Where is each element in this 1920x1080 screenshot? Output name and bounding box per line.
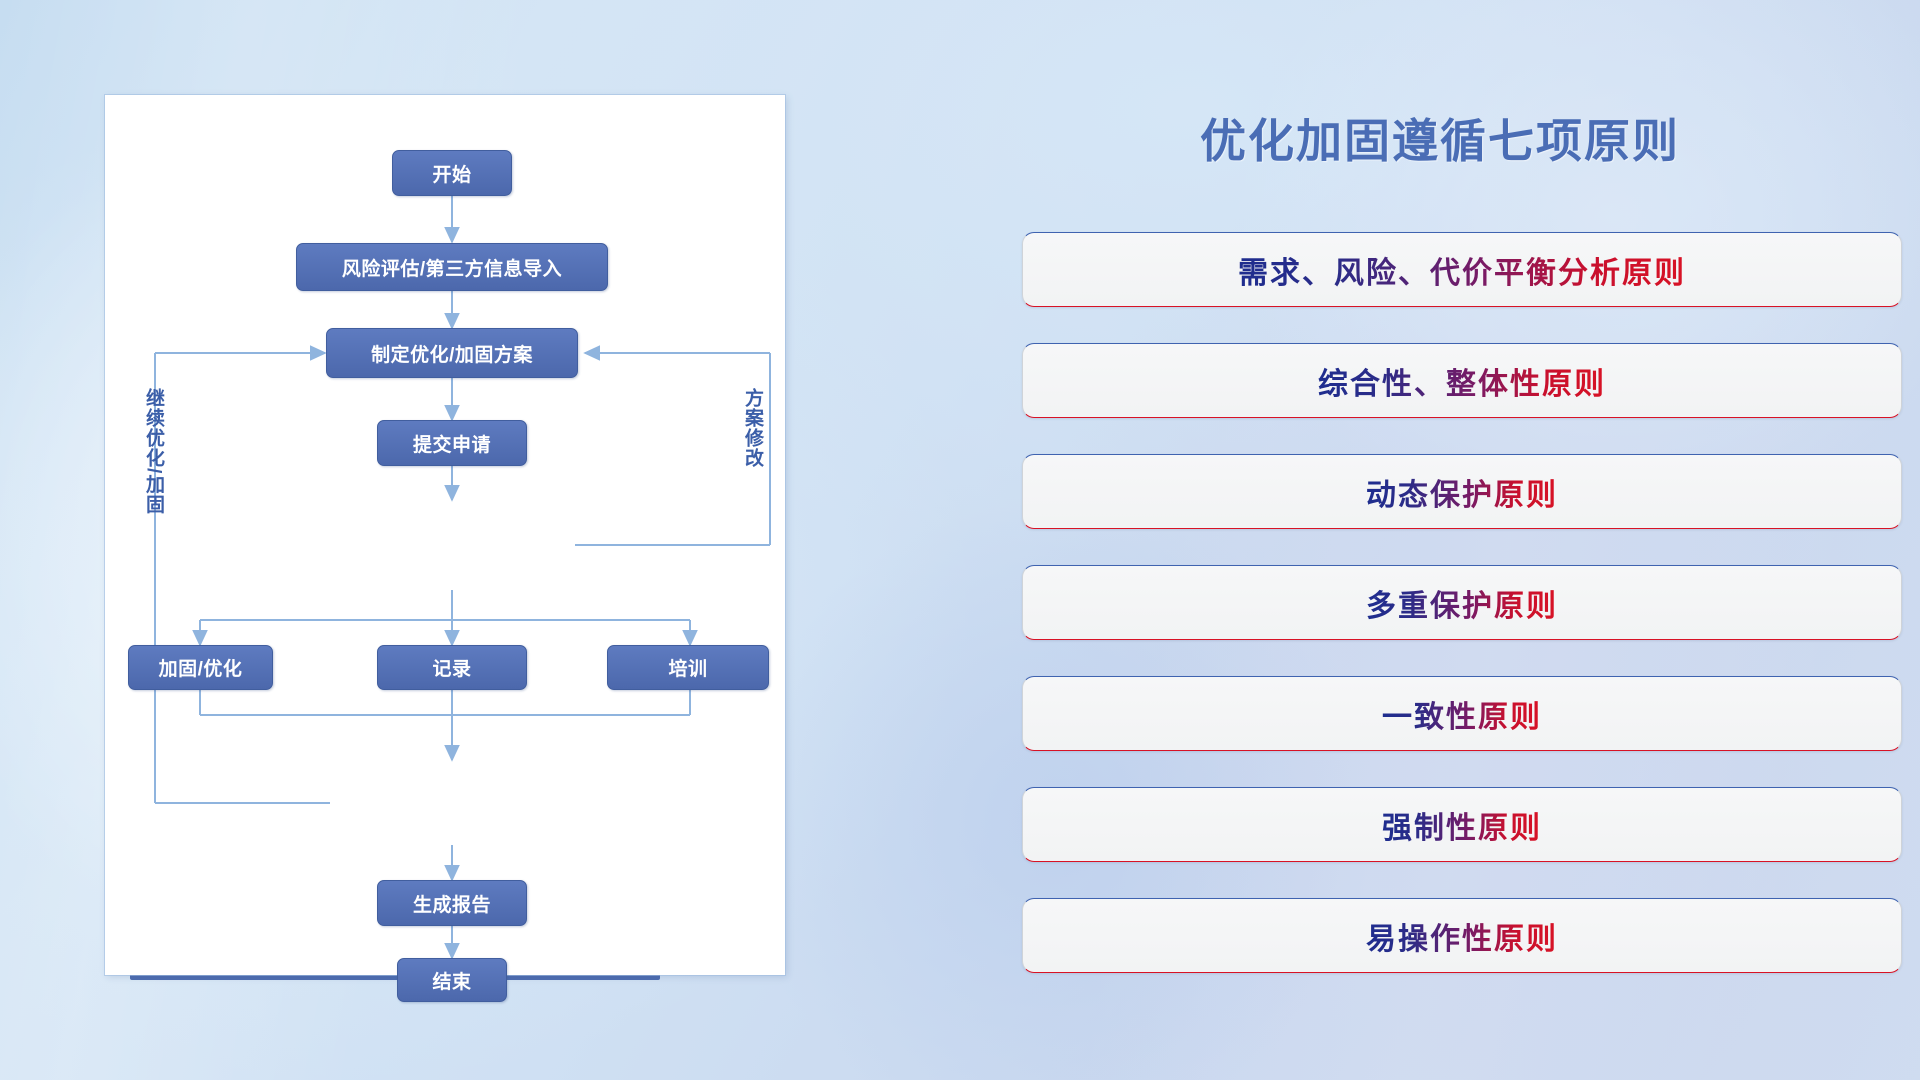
principle-item[interactable]: 一致性原则 <box>1022 676 1902 751</box>
flow-node-label: 提交申请 <box>413 430 491 457</box>
edge-label-plan-revision: 方案修改 <box>742 388 762 468</box>
principle-label: 需求、风险、代价平衡分析原则 <box>1238 248 1686 292</box>
flow-node-training[interactable]: 培训 <box>607 645 769 690</box>
principle-item[interactable]: 多重保护原则 <box>1022 565 1902 640</box>
page-title: 优化加固遵循七项原则 <box>1000 105 1880 171</box>
flow-node-label: 开始 <box>432 160 471 187</box>
flow-node-label: 制定优化/加固方案 <box>371 340 533 367</box>
principle-item[interactable]: 动态保护原则 <box>1022 454 1902 529</box>
principles-list: 需求、风险、代价平衡分析原则 综合性、整体性原则 动态保护原则 多重保护原则 一… <box>1022 232 1902 1009</box>
flow-node-owner-confirm[interactable]: 业主方确认 <box>330 500 575 590</box>
flow-node-inspect-confirm[interactable]: 检查确认 <box>330 760 575 846</box>
principle-label: 综合性、整体性原则 <box>1318 359 1606 403</box>
principle-label: 一致性原则 <box>1382 692 1542 736</box>
principle-label: 强制性原则 <box>1382 803 1542 847</box>
flow-node-label: 培训 <box>668 654 707 681</box>
principle-item[interactable]: 易操作性原则 <box>1022 898 1902 973</box>
flow-node-reinforce-optimize[interactable]: 加固/优化 <box>128 645 273 690</box>
principle-label: 动态保护原则 <box>1366 470 1558 514</box>
flow-node-plan[interactable]: 制定优化/加固方案 <box>326 328 578 378</box>
flow-node-generate-report[interactable]: 生成报告 <box>377 880 527 926</box>
principle-item[interactable]: 强制性原则 <box>1022 787 1902 862</box>
flow-node-label: 结束 <box>432 967 471 994</box>
flow-node-label: 生成报告 <box>413 890 491 917</box>
flow-node-record[interactable]: 记录 <box>377 645 527 690</box>
principles-panel: 优化加固遵循七项原则 需求、风险、代价平衡分析原则 综合性、整体性原则 动态保护… <box>1000 0 1920 1080</box>
flow-node-risk-assessment[interactable]: 风险评估/第三方信息导入 <box>296 243 608 291</box>
flow-node-label: 检查确认 <box>414 790 490 817</box>
flow-node-label: 加固/优化 <box>159 654 243 681</box>
flow-node-end[interactable]: 结束 <box>397 958 507 1002</box>
flow-node-label: 业主方确认 <box>405 532 500 559</box>
principle-item[interactable]: 综合性、整体性原则 <box>1022 343 1902 418</box>
principle-label: 易操作性原则 <box>1366 914 1558 958</box>
principle-item[interactable]: 需求、风险、代价平衡分析原则 <box>1022 232 1902 307</box>
flow-node-label: 记录 <box>432 654 471 681</box>
flow-node-start[interactable]: 开始 <box>392 150 512 196</box>
flowchart-panel: 开始 风险评估/第三方信息导入 制定优化/加固方案 提交申请 业主方确认 加固/… <box>0 0 820 1080</box>
edge-label-continue-optimize: 继续优化/加固 <box>143 388 163 514</box>
principle-label: 多重保护原则 <box>1366 581 1558 625</box>
flow-node-submit-application[interactable]: 提交申请 <box>377 420 527 466</box>
flow-node-label: 风险评估/第三方信息导入 <box>342 254 562 281</box>
